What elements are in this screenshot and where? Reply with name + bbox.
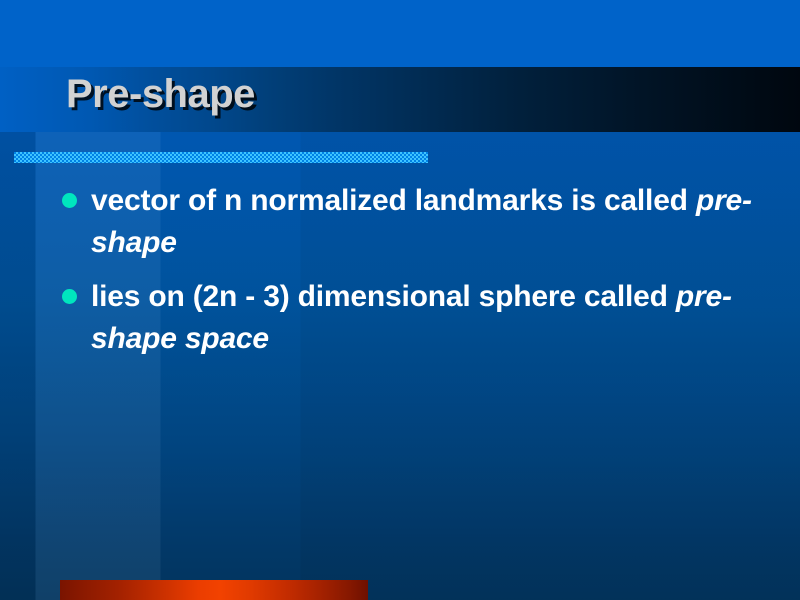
- slide-canvas: Pre-shape vector of n normalized landmar…: [0, 0, 800, 600]
- bullet-text-lead: vector of n normalized landmarks is call…: [91, 184, 696, 217]
- bullet-dot-icon: [62, 193, 77, 208]
- background-top-strip: [0, 0, 800, 67]
- title-divider-rule: [14, 152, 428, 163]
- bullet-text: lies on (2n - 3) dimensional sphere call…: [91, 276, 762, 360]
- footer-accent-bar: [60, 580, 368, 600]
- bullet-text-lead: lies on (2n - 3) dimensional sphere call…: [91, 280, 676, 313]
- slide-title: Pre-shape: [66, 74, 255, 114]
- bullet-dot-icon: [62, 289, 77, 304]
- bullet-list: vector of n normalized landmarks is call…: [62, 180, 762, 372]
- list-item: lies on (2n - 3) dimensional sphere call…: [62, 276, 762, 360]
- list-item: vector of n normalized landmarks is call…: [62, 180, 762, 264]
- bullet-text: vector of n normalized landmarks is call…: [91, 180, 762, 264]
